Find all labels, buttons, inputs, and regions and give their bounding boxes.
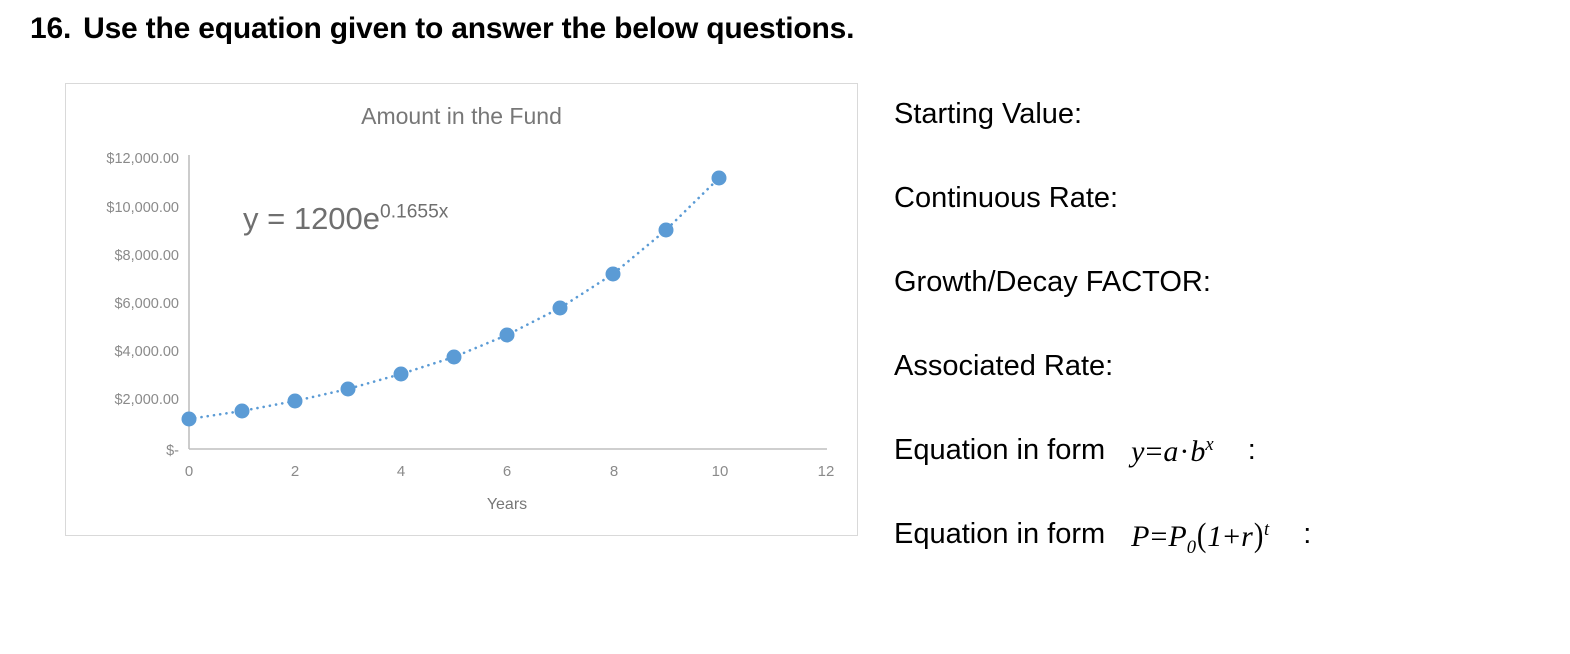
answer-label: Starting Value: [894,95,1082,133]
answer-row-equation-exponential: Equation in form y=a·bx : [894,431,1534,515]
answer-label: Associated Rate: [894,347,1113,385]
svg-text:12: 12 [818,463,835,480]
data-point [341,382,356,397]
question-heading: 16.Use the equation given to answer the … [30,12,854,46]
answer-label: Equation in form [894,515,1105,553]
chart-card: Amount in the Fund $12,000.00 $10,000.00… [65,83,858,536]
x-axis-title: Years [487,496,527,513]
answer-label: Growth/Decay FACTOR: [894,263,1211,301]
data-point [394,367,409,382]
equation-base: y = 1200e [243,201,380,236]
answer-label: Equation in form [894,431,1105,469]
answer-row-continuous-rate: Continuous Rate: [894,179,1534,263]
question-text: Use the equation given to answer the bel… [83,12,854,45]
data-point [182,412,197,427]
y-axis-tick-labels: $12,000.00 $10,000.00 $8,000.00 $6,000.0… [106,151,179,459]
answer-row-starting-value: Starting Value: [894,95,1534,179]
svg-text:$6,000.00: $6,000.00 [114,296,179,312]
answer-row-growth-decay-factor: Growth/Decay FACTOR: [894,263,1534,347]
data-point [235,404,250,419]
svg-text:$10,000.00: $10,000.00 [106,200,179,216]
data-point [659,223,674,238]
svg-text:6: 6 [503,463,511,480]
svg-text:10: 10 [712,463,729,480]
x-axis-tick-labels: 0 2 4 6 8 10 12 [185,463,835,480]
question-number: 16. [30,12,71,45]
svg-text:0: 0 [185,463,193,480]
answer-column: Starting Value: Continuous Rate: Growth/… [894,95,1534,599]
svg-text:4: 4 [397,463,405,480]
svg-text:8: 8 [610,463,618,480]
chart-plot: $12,000.00 $10,000.00 $8,000.00 $6,000.0… [66,84,857,535]
answer-colon: : [1303,515,1311,553]
formula-p-equals-p0-times-1-plus-r-to-t: P=P0(1+r)t [1131,517,1269,556]
data-point [553,301,568,316]
answer-row-equation-compound: Equation in form P=P0(1+r)t : [894,515,1534,599]
answer-label: Continuous Rate: [894,179,1118,217]
data-point [447,350,462,365]
svg-text:$8,000.00: $8,000.00 [114,248,179,264]
chart-equation-annotation: y = 1200e0.1655x [243,201,448,237]
svg-text:$4,000.00: $4,000.00 [114,344,179,360]
data-point [288,394,303,409]
data-point [606,267,621,282]
svg-text:2: 2 [291,463,299,480]
answer-row-associated-rate: Associated Rate: [894,347,1534,431]
svg-text:$-: $- [166,443,179,459]
formula-y-equals-a-times-b-to-x: y=a·bx [1131,433,1214,471]
svg-text:$2,000.00: $2,000.00 [114,392,179,408]
data-point [500,328,515,343]
svg-text:$12,000.00: $12,000.00 [106,151,179,167]
data-point [712,171,727,186]
equation-exponent: 0.1655x [380,202,448,223]
answer-colon: : [1248,431,1256,469]
